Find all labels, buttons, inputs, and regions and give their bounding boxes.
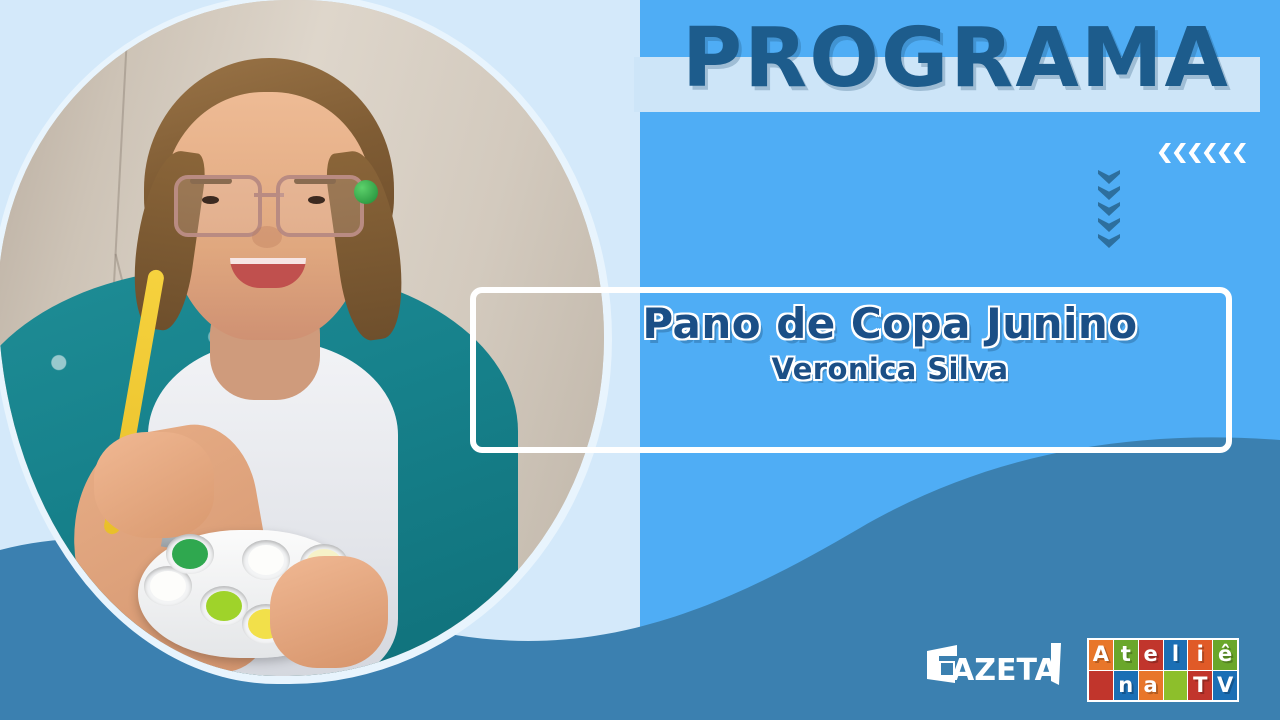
- chevron-left-icon: [1203, 143, 1216, 163]
- logo-cell: [1089, 671, 1113, 701]
- chevron-left-icon: [1158, 143, 1171, 163]
- logo-cell: [1164, 671, 1188, 701]
- page-title: PROGRAMA: [646, 18, 1266, 100]
- chevron-left-icon: [1218, 143, 1231, 163]
- logo-letter: V: [1217, 675, 1233, 696]
- earring-green: [354, 180, 378, 204]
- logo-cell: i: [1188, 640, 1212, 670]
- logo-letter: t: [1121, 644, 1131, 665]
- logo-letter: ê: [1218, 644, 1232, 665]
- glasses-lens-left: [174, 175, 262, 237]
- chevron-down-icon: [1098, 218, 1120, 232]
- logo-cell: A: [1089, 640, 1113, 670]
- logo-letter: l: [1172, 644, 1179, 665]
- chevron-down-icon: [1098, 170, 1120, 184]
- segment-title: Pano de Copa Junino: [560, 300, 1220, 348]
- logo-cell: n: [1114, 671, 1138, 701]
- chevron-left-icon: [1188, 143, 1201, 163]
- logo-cell: t: [1114, 640, 1138, 670]
- chevron-left-row: [1158, 143, 1246, 163]
- logo-cell: ê: [1213, 640, 1237, 670]
- logo-letter: A: [1093, 644, 1109, 665]
- eye-right: [308, 196, 325, 204]
- palette-well: [200, 586, 248, 626]
- chevron-down-icon: [1098, 202, 1120, 216]
- logo-letter: T: [1193, 675, 1207, 696]
- svg-text:AZETA: AZETA: [951, 653, 1059, 687]
- palette-well: [166, 534, 214, 574]
- logo-letter: e: [1143, 644, 1157, 665]
- logo-letter: a: [1143, 675, 1157, 696]
- presenter-name: Veronica Silva: [560, 352, 1220, 386]
- logo-cell: e: [1139, 640, 1163, 670]
- title-panel-text: Pano de Copa Junino Veronica Silva: [560, 300, 1220, 386]
- logo-cell: T: [1188, 671, 1212, 701]
- logo-letter: n: [1118, 675, 1133, 696]
- chevron-left-icon: [1233, 143, 1246, 163]
- gazeta-logo: AZETA: [925, 641, 1071, 687]
- logo-cell: V: [1213, 671, 1237, 701]
- logo-letter: i: [1197, 644, 1204, 665]
- chevron-left-icon: [1173, 143, 1186, 163]
- hand-right: [270, 556, 388, 668]
- chevron-down-icon: [1098, 234, 1120, 248]
- atelie-na-tv-logo: A t e l i ê n a T V: [1087, 638, 1239, 702]
- eye-left: [202, 196, 219, 204]
- chevron-down-icon: [1098, 186, 1120, 200]
- glasses-lens-right: [276, 175, 364, 237]
- logo-cell: a: [1139, 671, 1163, 701]
- glasses-icon: [174, 175, 364, 231]
- logo-cell: l: [1164, 640, 1188, 670]
- chevron-down-column: [1098, 170, 1120, 248]
- broadcast-lower-third-slide: PROGRAMA Pano de Copa Junino Veronica Si…: [0, 0, 1280, 720]
- hand-left: [94, 432, 214, 538]
- nose: [252, 226, 282, 248]
